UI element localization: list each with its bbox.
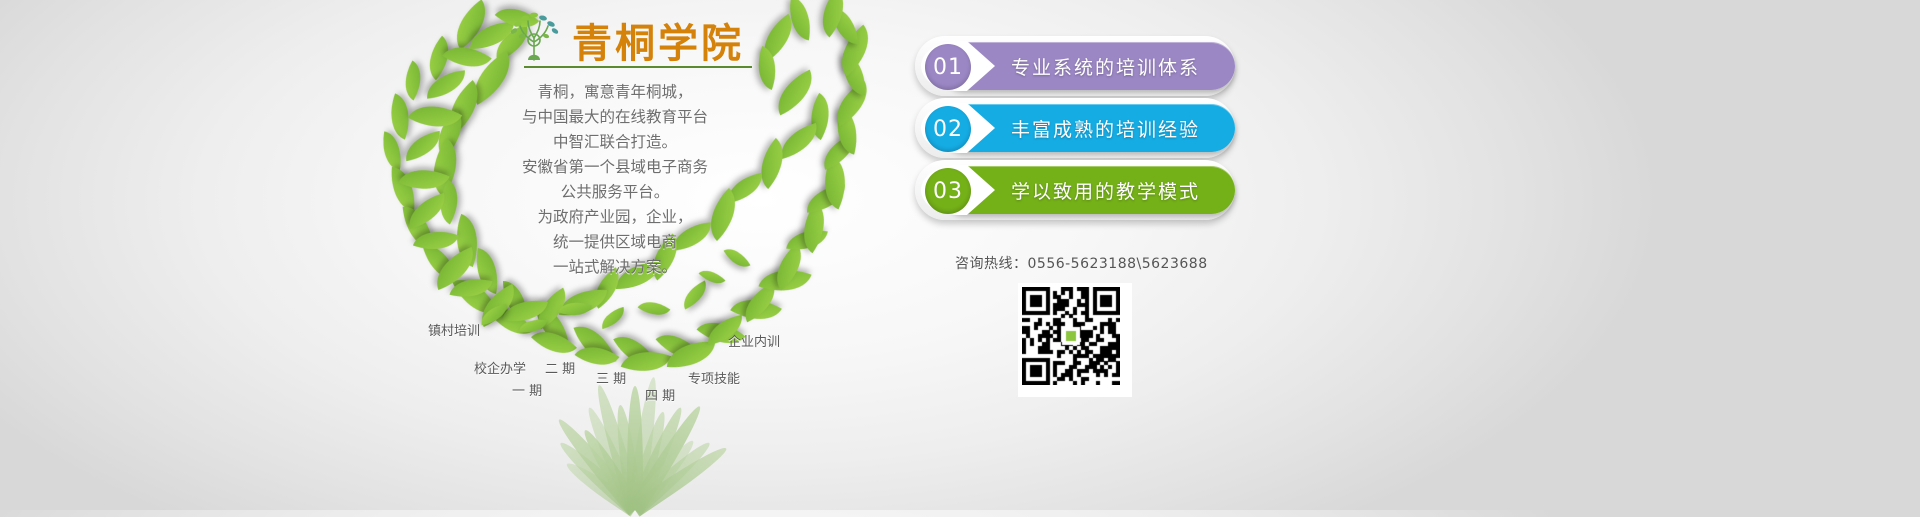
hotline-text: 咨询热线：0556-5623188\5623688 xyxy=(955,253,1208,273)
tree-logo-icon xyxy=(500,8,568,64)
brand-logo: 青桐学院 xyxy=(500,6,750,68)
feature-number: 02 xyxy=(925,106,971,152)
feature-item-01[interactable]: 01专业系统的培训体系 xyxy=(915,42,1235,90)
leaf-icon xyxy=(413,222,459,259)
description-line: 公共服务平台。 xyxy=(470,180,760,205)
tagline-label: 企业内训 xyxy=(728,331,780,350)
qr-code-icon xyxy=(1018,283,1132,397)
feature-number: 01 xyxy=(925,44,971,90)
tagline-label: 一 期 xyxy=(512,380,542,399)
feature-label: 学以致用的教学模式 xyxy=(1011,166,1200,214)
leaf-icon xyxy=(638,294,671,324)
tagline-label: 专项技能 xyxy=(688,368,740,387)
feature-list: 01专业系统的培训体系02丰富成熟的培训经验03学以致用的教学模式 xyxy=(915,42,1235,228)
description-line: 一站式解决方案。 xyxy=(470,255,760,280)
grass-tuft-decoration xyxy=(520,330,750,510)
feature-item-02[interactable]: 02丰富成熟的培训经验 xyxy=(915,104,1235,152)
feature-label: 专业系统的培训体系 xyxy=(1011,42,1200,90)
feature-item-03[interactable]: 03学以致用的教学模式 xyxy=(915,166,1235,214)
leaf-icon xyxy=(425,70,467,98)
brand-name: 青桐学院 xyxy=(572,11,744,69)
description-line: 中智汇联合打造。 xyxy=(470,130,760,155)
banner-canvas: 青桐学院 青桐，寓意青年桐城，与中国最大的在线教育平台中智汇联合打造。安徽省第一… xyxy=(0,0,1920,510)
description-line: 统一提供区域电商 xyxy=(470,230,760,255)
logo-divider xyxy=(524,66,752,68)
description-line: 与中国最大的在线教育平台 xyxy=(470,105,760,130)
tagline-label: 三 期 xyxy=(596,368,626,387)
feature-number: 03 xyxy=(925,168,971,214)
tagline-label: 四 期 xyxy=(645,385,675,404)
tagline-label: 镇村培训 xyxy=(428,320,480,339)
brand-description: 青桐，寓意青年桐城，与中国最大的在线教育平台中智汇联合打造。安徽省第一个县域电子… xyxy=(470,80,760,280)
tagline-label: 校企办学 xyxy=(474,358,526,377)
description-line: 为政府产业园，企业， xyxy=(470,205,760,230)
description-line: 青桐，寓意青年桐城， xyxy=(470,80,760,105)
leaf-icon xyxy=(678,281,713,310)
tagline-label: 二 期 xyxy=(545,358,575,377)
feature-label: 丰富成熟的培训经验 xyxy=(1011,104,1200,152)
description-line: 安徽省第一个县域电子商务 xyxy=(470,155,760,180)
